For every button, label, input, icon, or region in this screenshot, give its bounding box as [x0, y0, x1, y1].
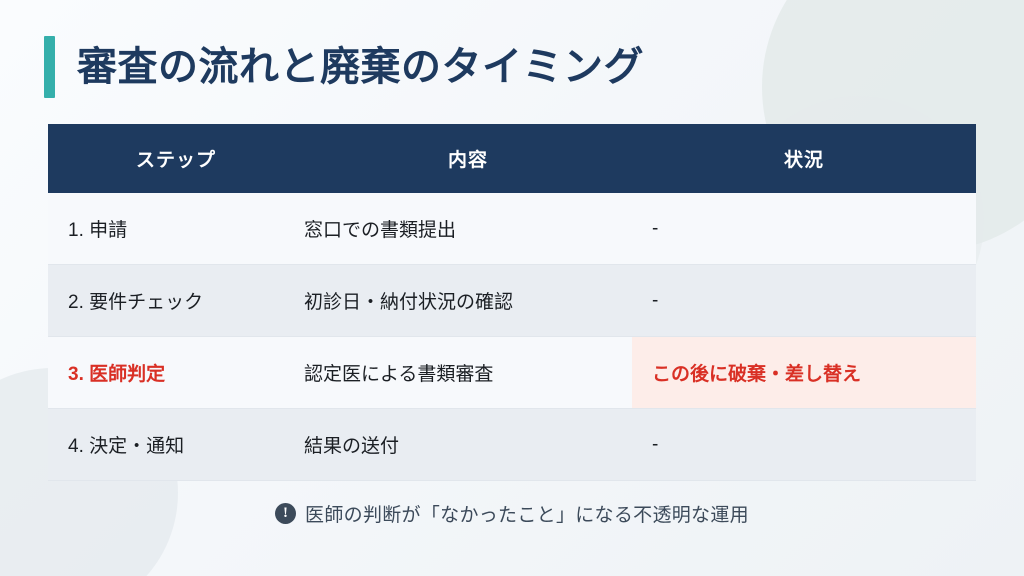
cell-status: - [632, 265, 976, 336]
cell-step: 2. 要件チェック [48, 265, 304, 336]
table-row: 1. 申請 窓口での書類提出 - [48, 193, 976, 265]
footer-note-text: 医師の判断が「なかったこと」になる不透明な運用 [305, 500, 749, 527]
cell-status: - [632, 193, 976, 264]
cell-status: - [632, 409, 976, 480]
table-row-highlighted: 3. 医師判定 認定医による書類審査 この後に破棄・差し替え [48, 337, 976, 409]
process-table: ステップ 内容 状況 1. 申請 窓口での書類提出 - 2. 要件チェック 初診… [48, 124, 976, 481]
table-header-row: ステップ 内容 状況 [48, 124, 976, 193]
page-title: 審査の流れと廃棄のタイミング [77, 47, 644, 87]
column-header-content: 内容 [304, 145, 632, 172]
column-header-step: ステップ [48, 145, 304, 172]
cell-step: 3. 医師判定 [48, 337, 304, 408]
cell-content: 窓口での書類提出 [304, 193, 632, 264]
slide-title-row: 審査の流れと廃棄のタイミング [44, 36, 644, 98]
title-accent-bar [44, 36, 55, 98]
cell-step: 4. 決定・通知 [48, 409, 304, 480]
column-header-status: 状況 [632, 145, 976, 172]
cell-status-alert: この後に破棄・差し替え [632, 337, 976, 408]
cell-content: 認定医による書類審査 [304, 337, 632, 408]
cell-content: 結果の送付 [304, 409, 632, 480]
slide-canvas: 審査の流れと廃棄のタイミング ステップ 内容 状況 1. 申請 窓口での書類提出… [0, 0, 1024, 576]
footer-note: ! 医師の判断が「なかったこと」になる不透明な運用 [0, 500, 1024, 527]
cell-content: 初診日・納付状況の確認 [304, 265, 632, 336]
table-row: 2. 要件チェック 初診日・納付状況の確認 - [48, 265, 976, 337]
exclamation-circle-icon: ! [275, 503, 296, 524]
table-row: 4. 決定・通知 結果の送付 - [48, 409, 976, 481]
cell-step: 1. 申請 [48, 193, 304, 264]
